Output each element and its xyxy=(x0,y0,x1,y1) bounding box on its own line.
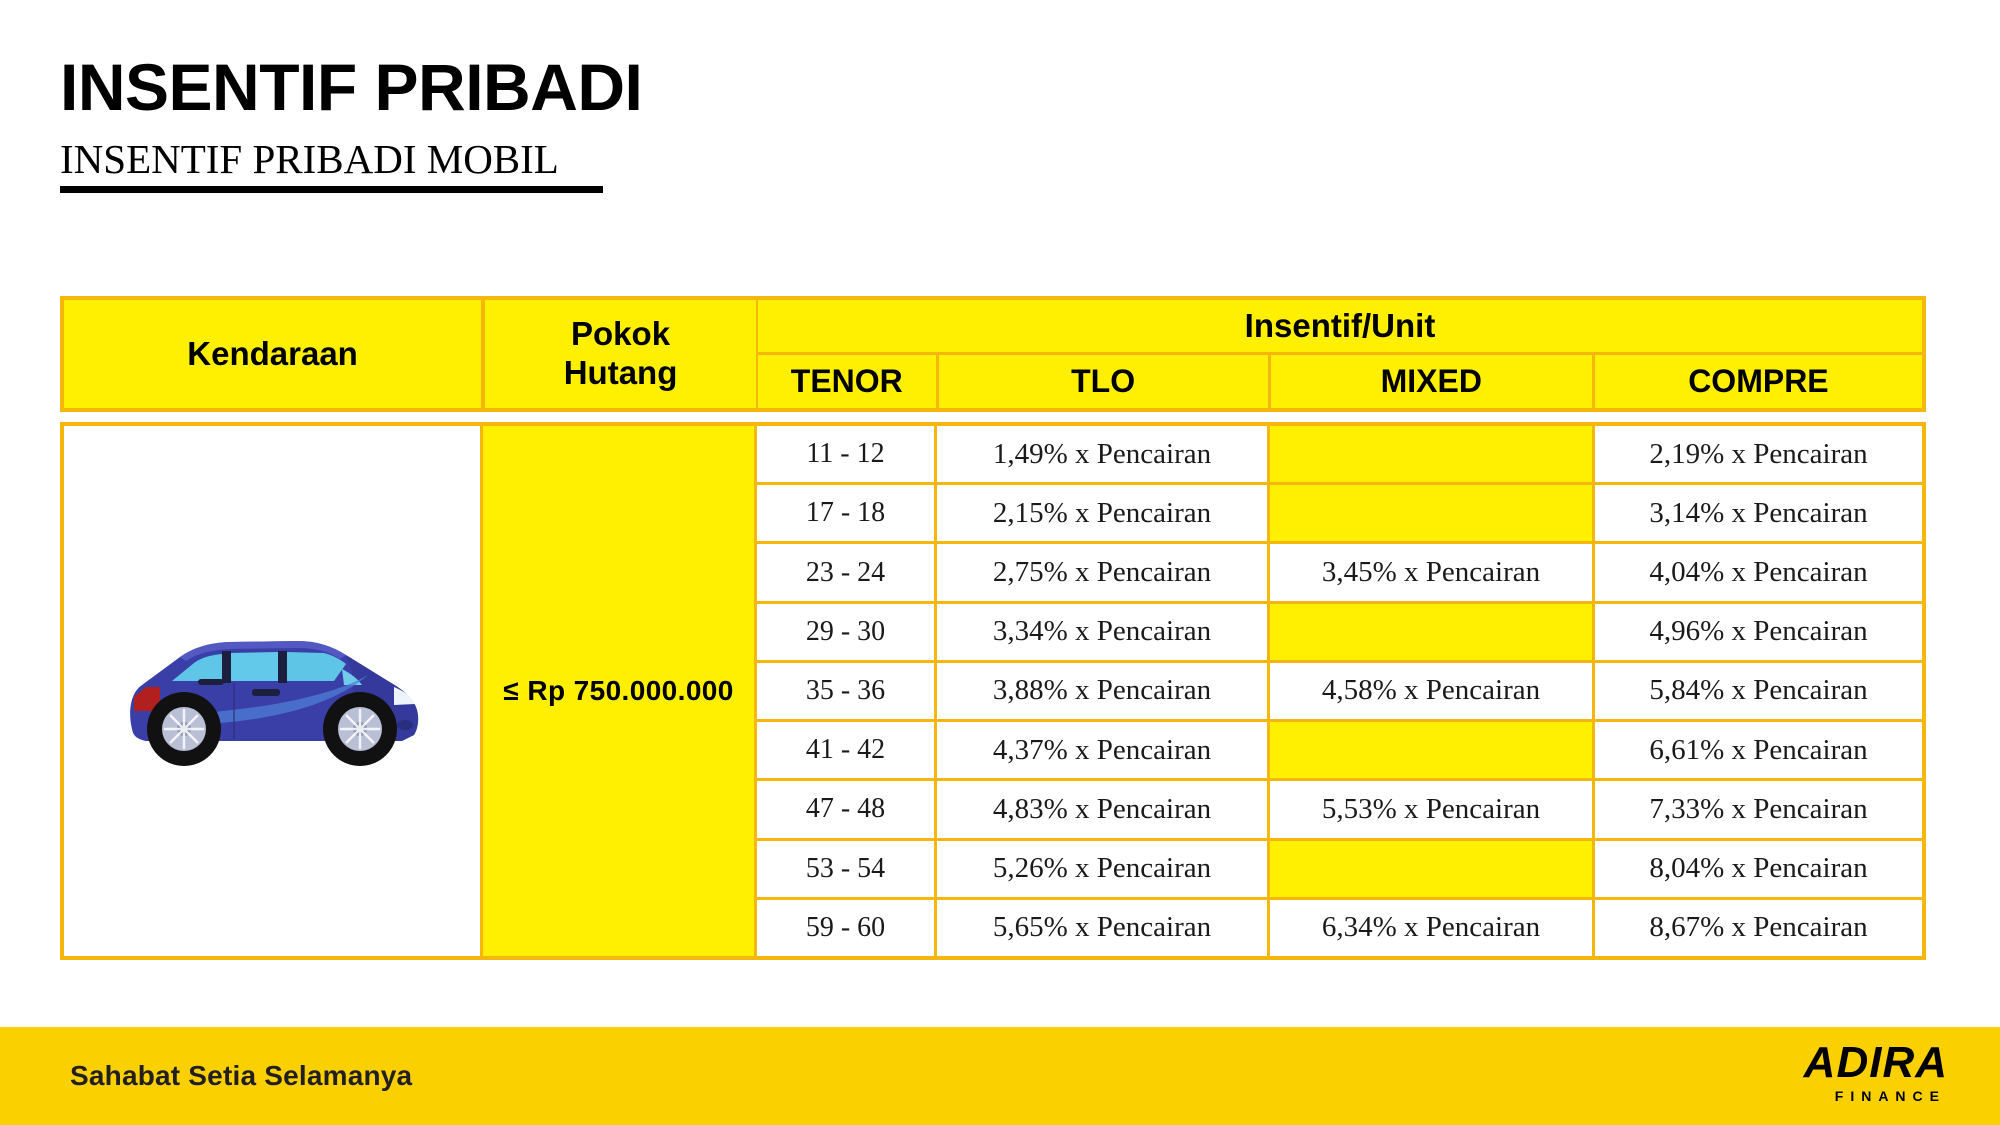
cell-compre: 3,14% x Pencairan xyxy=(1595,485,1922,541)
cell-tlo: 3,34% x Pencairan xyxy=(937,604,1267,660)
pokok-hutang-value: ≤ Rp 750.000.000 xyxy=(503,675,733,707)
table-row: 59 - 605,65% x Pencairan6,34% x Pencaira… xyxy=(757,900,1922,956)
cell-tenor: 29 - 30 xyxy=(757,604,934,660)
car-handle-front xyxy=(252,689,280,696)
footer-band: Sahabat Setia Selamanya ADIRA FINANCE xyxy=(0,1027,2000,1125)
table-row: 17 - 182,15% x Pencairan3,14% x Pencaira… xyxy=(757,485,1922,541)
table-row: 53 - 545,26% x Pencairan8,04% x Pencaira… xyxy=(757,841,1922,897)
cell-tlo: 4,37% x Pencairan xyxy=(937,722,1267,778)
car-handle-rear xyxy=(198,679,224,685)
cell-tenor: 35 - 36 xyxy=(757,663,934,719)
title-block: INSENTIF PRIBADI INSENTIF PRIBADI MOBIL xyxy=(60,52,1260,193)
cell-tenor: 47 - 48 xyxy=(757,781,934,837)
car-wheel-front xyxy=(323,692,397,766)
cell-tlo: 2,15% x Pencairan xyxy=(937,485,1267,541)
car-b-pillar xyxy=(222,651,231,683)
car-headlight xyxy=(394,687,415,705)
car-bumper-detail xyxy=(397,720,413,730)
cell-tlo: 1,49% x Pencairan xyxy=(937,426,1267,482)
table-row: 41 - 424,37% x Pencairan6,61% x Pencaira… xyxy=(757,722,1922,778)
pokok-hutang-cell: ≤ Rp 750.000.000 xyxy=(483,426,754,956)
table-header: Kendaraan Pokok Hutang Insentif/Unit TEN… xyxy=(60,296,1926,412)
incentive-table: Kendaraan Pokok Hutang Insentif/Unit TEN… xyxy=(60,296,1926,960)
vehicle-cell xyxy=(64,426,480,956)
cell-compre: 8,04% x Pencairan xyxy=(1595,841,1922,897)
page-title: INSENTIF PRIBADI xyxy=(60,52,1260,123)
cell-mixed: 4,58% x Pencairan xyxy=(1270,663,1592,719)
cell-mixed: 6,34% x Pencairan xyxy=(1270,900,1592,956)
cell-tlo: 2,75% x Pencairan xyxy=(937,544,1267,600)
cell-compre: 5,84% x Pencairan xyxy=(1595,663,1922,719)
footer-tagline: Sahabat Setia Selamanya xyxy=(70,1060,412,1092)
column-header-insentif-unit: Insentif/Unit xyxy=(758,300,1922,352)
cell-tlo: 5,65% x Pencairan xyxy=(937,900,1267,956)
table-row: 47 - 484,83% x Pencairan5,53% x Pencaira… xyxy=(757,781,1922,837)
column-header-pokok-line1: Pokok xyxy=(564,315,678,354)
cell-compre: 7,33% x Pencairan xyxy=(1595,781,1922,837)
logo-subtext: FINANCE xyxy=(1748,1088,1948,1104)
cell-tenor: 11 - 12 xyxy=(757,426,934,482)
column-header-compre: COMPRE xyxy=(1595,355,1922,408)
car-c-pillar xyxy=(278,651,287,683)
column-header-tlo: TLO xyxy=(939,355,1268,408)
car-hatchback-icon xyxy=(102,601,442,781)
cell-tenor: 23 - 24 xyxy=(757,544,934,600)
cell-tenor: 17 - 18 xyxy=(757,485,934,541)
table-row: 35 - 363,88% x Pencairan4,58% x Pencaira… xyxy=(757,663,1922,719)
page-subtitle-underline: INSENTIF PRIBADI MOBIL xyxy=(60,137,603,193)
cell-mixed xyxy=(1270,485,1592,541)
cell-tlo: 4,83% x Pencairan xyxy=(937,781,1267,837)
column-header-insentif-group: Insentif/Unit TENOR TLO MIXED COMPRE xyxy=(758,300,1922,408)
table-row: 11 - 121,49% x Pencairan2,19% x Pencaira… xyxy=(757,426,1922,482)
table-body: ≤ Rp 750.000.000 11 - 121,49% x Pencaira… xyxy=(60,422,1926,960)
page-subtitle: INSENTIF PRIBADI MOBIL xyxy=(60,137,559,183)
car-window-rear-door xyxy=(230,652,278,681)
cell-tlo: 5,26% x Pencairan xyxy=(937,841,1267,897)
column-header-pokok-hutang: Pokok Hutang xyxy=(485,300,756,408)
column-header-pokok-line2: Hutang xyxy=(564,354,678,393)
cell-tenor: 41 - 42 xyxy=(757,722,934,778)
cell-tlo: 3,88% x Pencairan xyxy=(937,663,1267,719)
cell-compre: 8,67% x Pencairan xyxy=(1595,900,1922,956)
column-subheader-row: TENOR TLO MIXED COMPRE xyxy=(758,355,1922,408)
rate-rows-container: 11 - 121,49% x Pencairan2,19% x Pencaira… xyxy=(757,426,1922,956)
cell-mixed xyxy=(1270,604,1592,660)
cell-mixed xyxy=(1270,722,1592,778)
table-row: 23 - 242,75% x Pencairan3,45% x Pencaira… xyxy=(757,544,1922,600)
slide-canvas: INSENTIF PRIBADI INSENTIF PRIBADI MOBIL … xyxy=(0,0,2000,1125)
cell-tenor: 53 - 54 xyxy=(757,841,934,897)
cell-mixed: 3,45% x Pencairan xyxy=(1270,544,1592,600)
cell-compre: 6,61% x Pencairan xyxy=(1595,722,1922,778)
car-wheel-rear xyxy=(147,692,221,766)
column-header-tenor: TENOR xyxy=(758,355,936,408)
cell-mixed xyxy=(1270,426,1592,482)
cell-compre: 4,04% x Pencairan xyxy=(1595,544,1922,600)
cell-tenor: 59 - 60 xyxy=(757,900,934,956)
adira-finance-logo: ADIRA FINANCE xyxy=(1748,1041,1948,1107)
cell-compre: 2,19% x Pencairan xyxy=(1595,426,1922,482)
cell-mixed xyxy=(1270,841,1592,897)
logo-wordmark: ADIRA xyxy=(1748,1041,1948,1085)
column-header-mixed: MIXED xyxy=(1271,355,1592,408)
column-header-kendaraan: Kendaraan xyxy=(64,300,481,408)
cell-compre: 4,96% x Pencairan xyxy=(1595,604,1922,660)
table-row: 29 - 303,34% x Pencairan4,96% x Pencaira… xyxy=(757,604,1922,660)
cell-mixed: 5,53% x Pencairan xyxy=(1270,781,1592,837)
